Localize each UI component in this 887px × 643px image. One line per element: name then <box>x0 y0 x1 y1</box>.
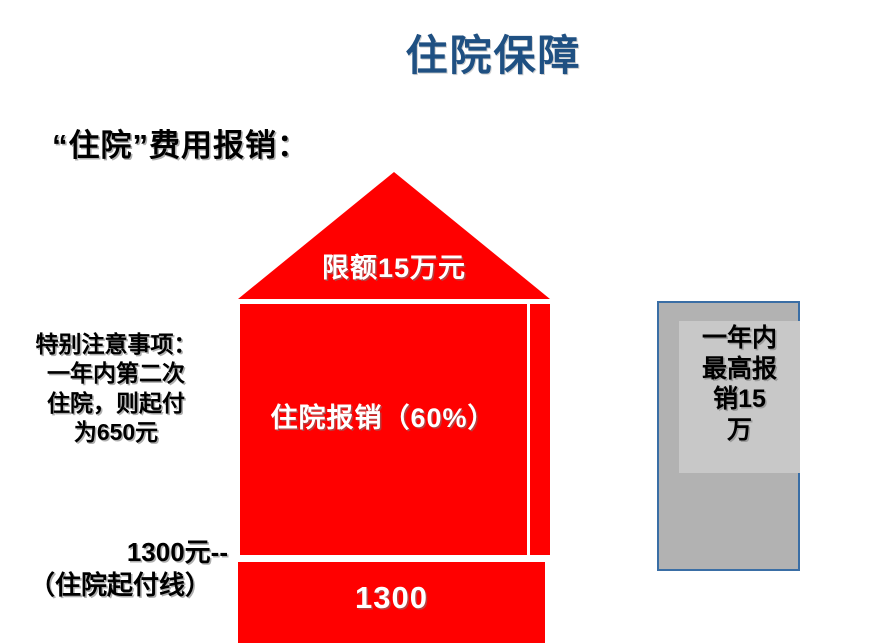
special-notice-line-4: 为650元 <box>4 418 228 447</box>
slide-canvas: 住院保障 “住院”费用报销： 特别注意事项： 一年内第二次 住院，则起付 为65… <box>0 0 887 643</box>
annual-cap-line-2: 最高报 <box>679 354 800 385</box>
special-notice-line-1: 特别注意事项： <box>4 330 228 359</box>
special-notice-line-3: 住院，则起付 <box>4 389 228 418</box>
special-notice-line-2: 一年内第二次 <box>4 359 228 388</box>
deductible-threshold-label: 1300元-- （住院起付线） <box>6 536 234 603</box>
deductible-value-label: 1300 <box>238 580 545 616</box>
deductible-caption-line: （住院起付线） <box>6 569 234 602</box>
annual-cap-line-3: 销15 <box>679 384 800 415</box>
body-divider-line <box>527 304 530 555</box>
deductible-amount-line: 1300元-- <box>6 536 234 569</box>
page-title: 住院保障 <box>0 22 887 83</box>
annual-cap-callout-box: 一年内 最高报 销15 万 <box>657 301 800 571</box>
annual-cap-line-1: 一年内 <box>679 323 800 354</box>
house-base-shape: 1300 <box>238 562 545 643</box>
annual-limit-label: 限额15万元 <box>238 246 550 285</box>
section-subtitle: “住院”费用报销： <box>52 120 309 165</box>
hospital-coverage-house-diagram: 限额15万元 住院报销（60%） 1300 <box>238 172 550 643</box>
annual-cap-callout-text: 一年内 最高报 销15 万 <box>679 323 800 445</box>
special-notice-text: 特别注意事项： 一年内第二次 住院，则起付 为650元 <box>4 330 228 448</box>
annual-cap-line-4: 万 <box>679 415 800 446</box>
reimbursement-rate-label: 住院报销（60%） <box>240 396 526 435</box>
